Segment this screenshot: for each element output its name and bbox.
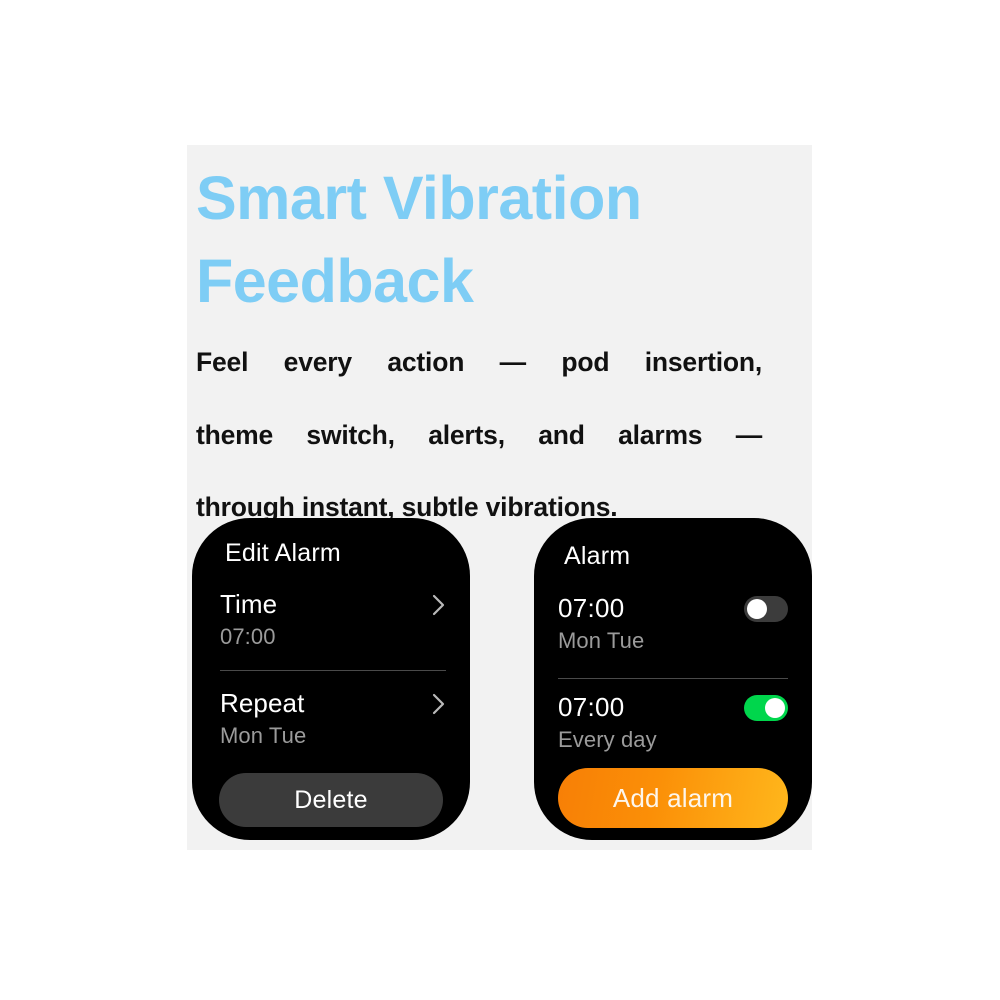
promo-description: Feel every action — pod insertion, theme…: [196, 344, 762, 525]
alarm-days: Mon Tue: [558, 629, 788, 653]
delete-button[interactable]: Delete: [219, 773, 443, 827]
chevron-right-icon: [432, 693, 446, 715]
headline-line-1: Smart Vibration: [196, 157, 796, 240]
settings-row-repeat[interactable]: Repeat Mon Tue: [220, 689, 442, 748]
edit-alarm-title: Edit Alarm: [225, 539, 341, 568]
alarm-toggle-off[interactable]: [744, 596, 788, 622]
headline-line-2: Feedback: [196, 240, 796, 323]
settings-row-time-label: Time: [220, 590, 442, 618]
toggle-knob: [747, 599, 767, 619]
settings-row-time[interactable]: Time 07:00: [220, 590, 442, 649]
body-line-2: theme switch, alerts, and alarms —: [196, 417, 762, 490]
alarm-days: Every day: [558, 728, 788, 752]
settings-row-repeat-value: Mon Tue: [220, 724, 442, 748]
chevron-right-icon: [432, 594, 446, 616]
toggle-knob: [765, 698, 785, 718]
alarm-list-item[interactable]: 07:00 Mon Tue: [558, 594, 788, 653]
row-divider: [220, 670, 446, 671]
watch-screen-alarm-list: Alarm 07:00 Mon Tue 07:00 Every day Add …: [534, 518, 812, 840]
body-line-1: Feel every action — pod insertion,: [196, 344, 762, 417]
add-alarm-button[interactable]: Add alarm: [558, 768, 788, 828]
screenshot-canvas: Smart Vibration Feedback Feel every acti…: [0, 0, 1000, 1000]
row-divider: [558, 678, 788, 679]
alarm-toggle-on[interactable]: [744, 695, 788, 721]
alarm-list-title: Alarm: [564, 542, 630, 571]
settings-row-repeat-label: Repeat: [220, 689, 442, 717]
watch-screen-edit-alarm: Edit Alarm Time 07:00 Repeat Mon Tue Del…: [192, 518, 470, 840]
alarm-list-item[interactable]: 07:00 Every day: [558, 693, 788, 752]
settings-row-time-value: 07:00: [220, 625, 442, 649]
page-title: Smart Vibration Feedback: [196, 157, 796, 323]
